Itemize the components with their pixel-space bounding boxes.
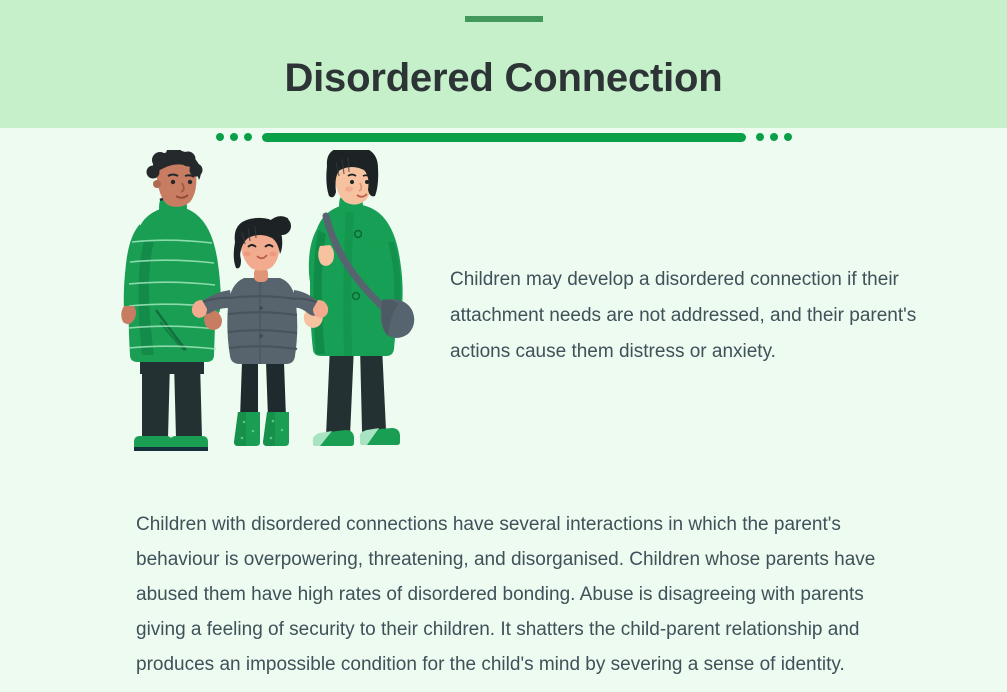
page-title: Disordered Connection (0, 52, 1007, 104)
header-accent-bar (465, 16, 543, 22)
figure-mother (304, 150, 414, 446)
main-content: Children may develop a disordered connec… (0, 150, 1007, 682)
divider-dot-left-3 (244, 133, 252, 141)
section-divider (216, 130, 792, 144)
divider-dot-right-1 (756, 133, 764, 141)
divider-bar (262, 133, 746, 142)
divider-dot-left-1 (216, 133, 224, 141)
body-paragraph: Children with disordered connections hav… (0, 507, 1007, 682)
page-header-band: Disordered Connection (0, 0, 1007, 128)
family-illustration-wrap (0, 150, 420, 465)
divider-dot-right-3 (784, 133, 792, 141)
divider-dot-right-2 (770, 133, 778, 141)
family-illustration (120, 150, 420, 460)
divider-dot-left-2 (230, 133, 238, 141)
intro-row: Children may develop a disordered connec… (0, 150, 1007, 465)
intro-paragraph: Children may develop a disordered connec… (420, 150, 1007, 370)
